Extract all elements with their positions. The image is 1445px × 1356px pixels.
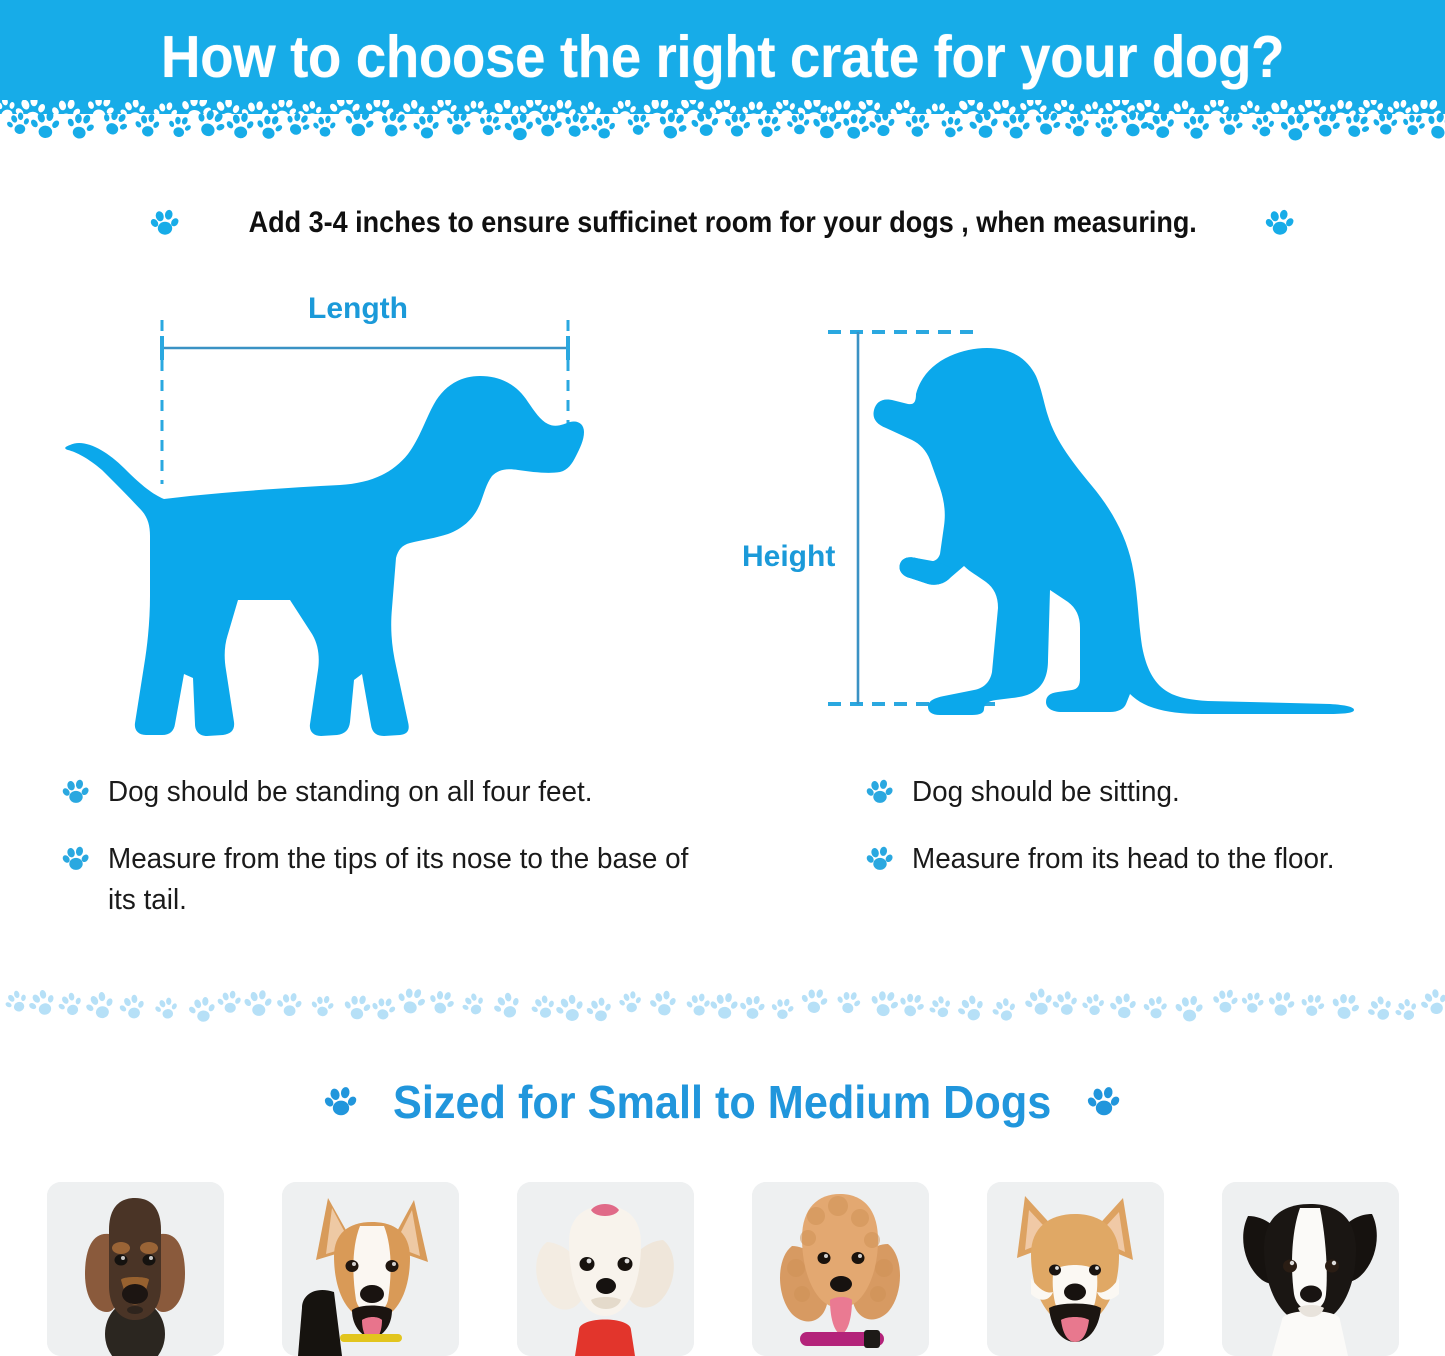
list-item-label: Measure from its head to the floor. — [912, 839, 1334, 880]
page-title: How to choose the right crate for your d… — [51, 0, 1395, 114]
paw-print-icon — [324, 1085, 358, 1119]
section-heading-label: Sized for Small to Medium Dogs — [393, 1075, 1051, 1129]
paw-print-icon — [62, 845, 90, 873]
list-item-label: Dog should be standing on all four feet. — [108, 772, 592, 813]
shiba-inu-photo — [987, 1182, 1164, 1356]
section-heading: Sized for Small to Medium Dogs — [0, 1062, 1445, 1142]
height-diagram: Height — [730, 308, 1430, 758]
paw-print-icon — [866, 778, 894, 806]
height-label: Height — [742, 540, 835, 574]
list-item: Dog should be standing on all four feet. — [62, 772, 742, 813]
instructions-left-column: Dog should be standing on all four feet.… — [62, 772, 742, 948]
dog-body-shape — [65, 376, 584, 736]
length-diagram: Length — [40, 278, 700, 758]
paw-print-icon — [150, 208, 180, 238]
list-item: Measure from its head to the floor. — [866, 839, 1426, 880]
paw-print-icon — [62, 778, 90, 806]
list-item: Dog should be sitting. — [866, 772, 1426, 813]
standing-dog-silhouette — [40, 278, 700, 758]
border-collie-photo — [1222, 1182, 1399, 1356]
paw-print-icon — [0, 978, 1445, 1038]
list-item: Measure from the tips of its nose to the… — [62, 839, 742, 921]
dog-body-shape — [874, 348, 1355, 715]
breed-photo-row — [0, 1182, 1445, 1356]
subtitle-text: Add 3-4 inches to ensure sufficinet room… — [248, 206, 1196, 240]
header-banner: How to choose the right crate for your d… — [0, 0, 1445, 114]
paw-divider — [0, 978, 1445, 1038]
paw-print-icon — [0, 100, 1445, 162]
list-item-label: Measure from the tips of its nose to the… — [108, 839, 717, 921]
corgi-photo — [282, 1182, 459, 1356]
maltese-photo — [517, 1182, 694, 1356]
measurement-diagrams: Length Height — [0, 278, 1445, 768]
length-label: Length — [308, 292, 408, 326]
sitting-dog-silhouette — [730, 308, 1430, 758]
header-paw-border — [0, 100, 1445, 162]
instructions-right-column: Dog should be sitting. Measure from its … — [866, 772, 1426, 906]
paw-print-icon — [1265, 208, 1295, 238]
paw-print-icon — [866, 845, 894, 873]
list-item-label: Dog should be sitting. — [912, 772, 1180, 813]
subtitle-row: Add 3-4 inches to ensure sufficinet room… — [0, 196, 1445, 250]
instruction-lists: Dog should be standing on all four feet.… — [0, 772, 1445, 952]
paw-print-icon — [1087, 1085, 1121, 1119]
poodle-photo — [752, 1182, 929, 1356]
dachshund-photo — [47, 1182, 224, 1356]
